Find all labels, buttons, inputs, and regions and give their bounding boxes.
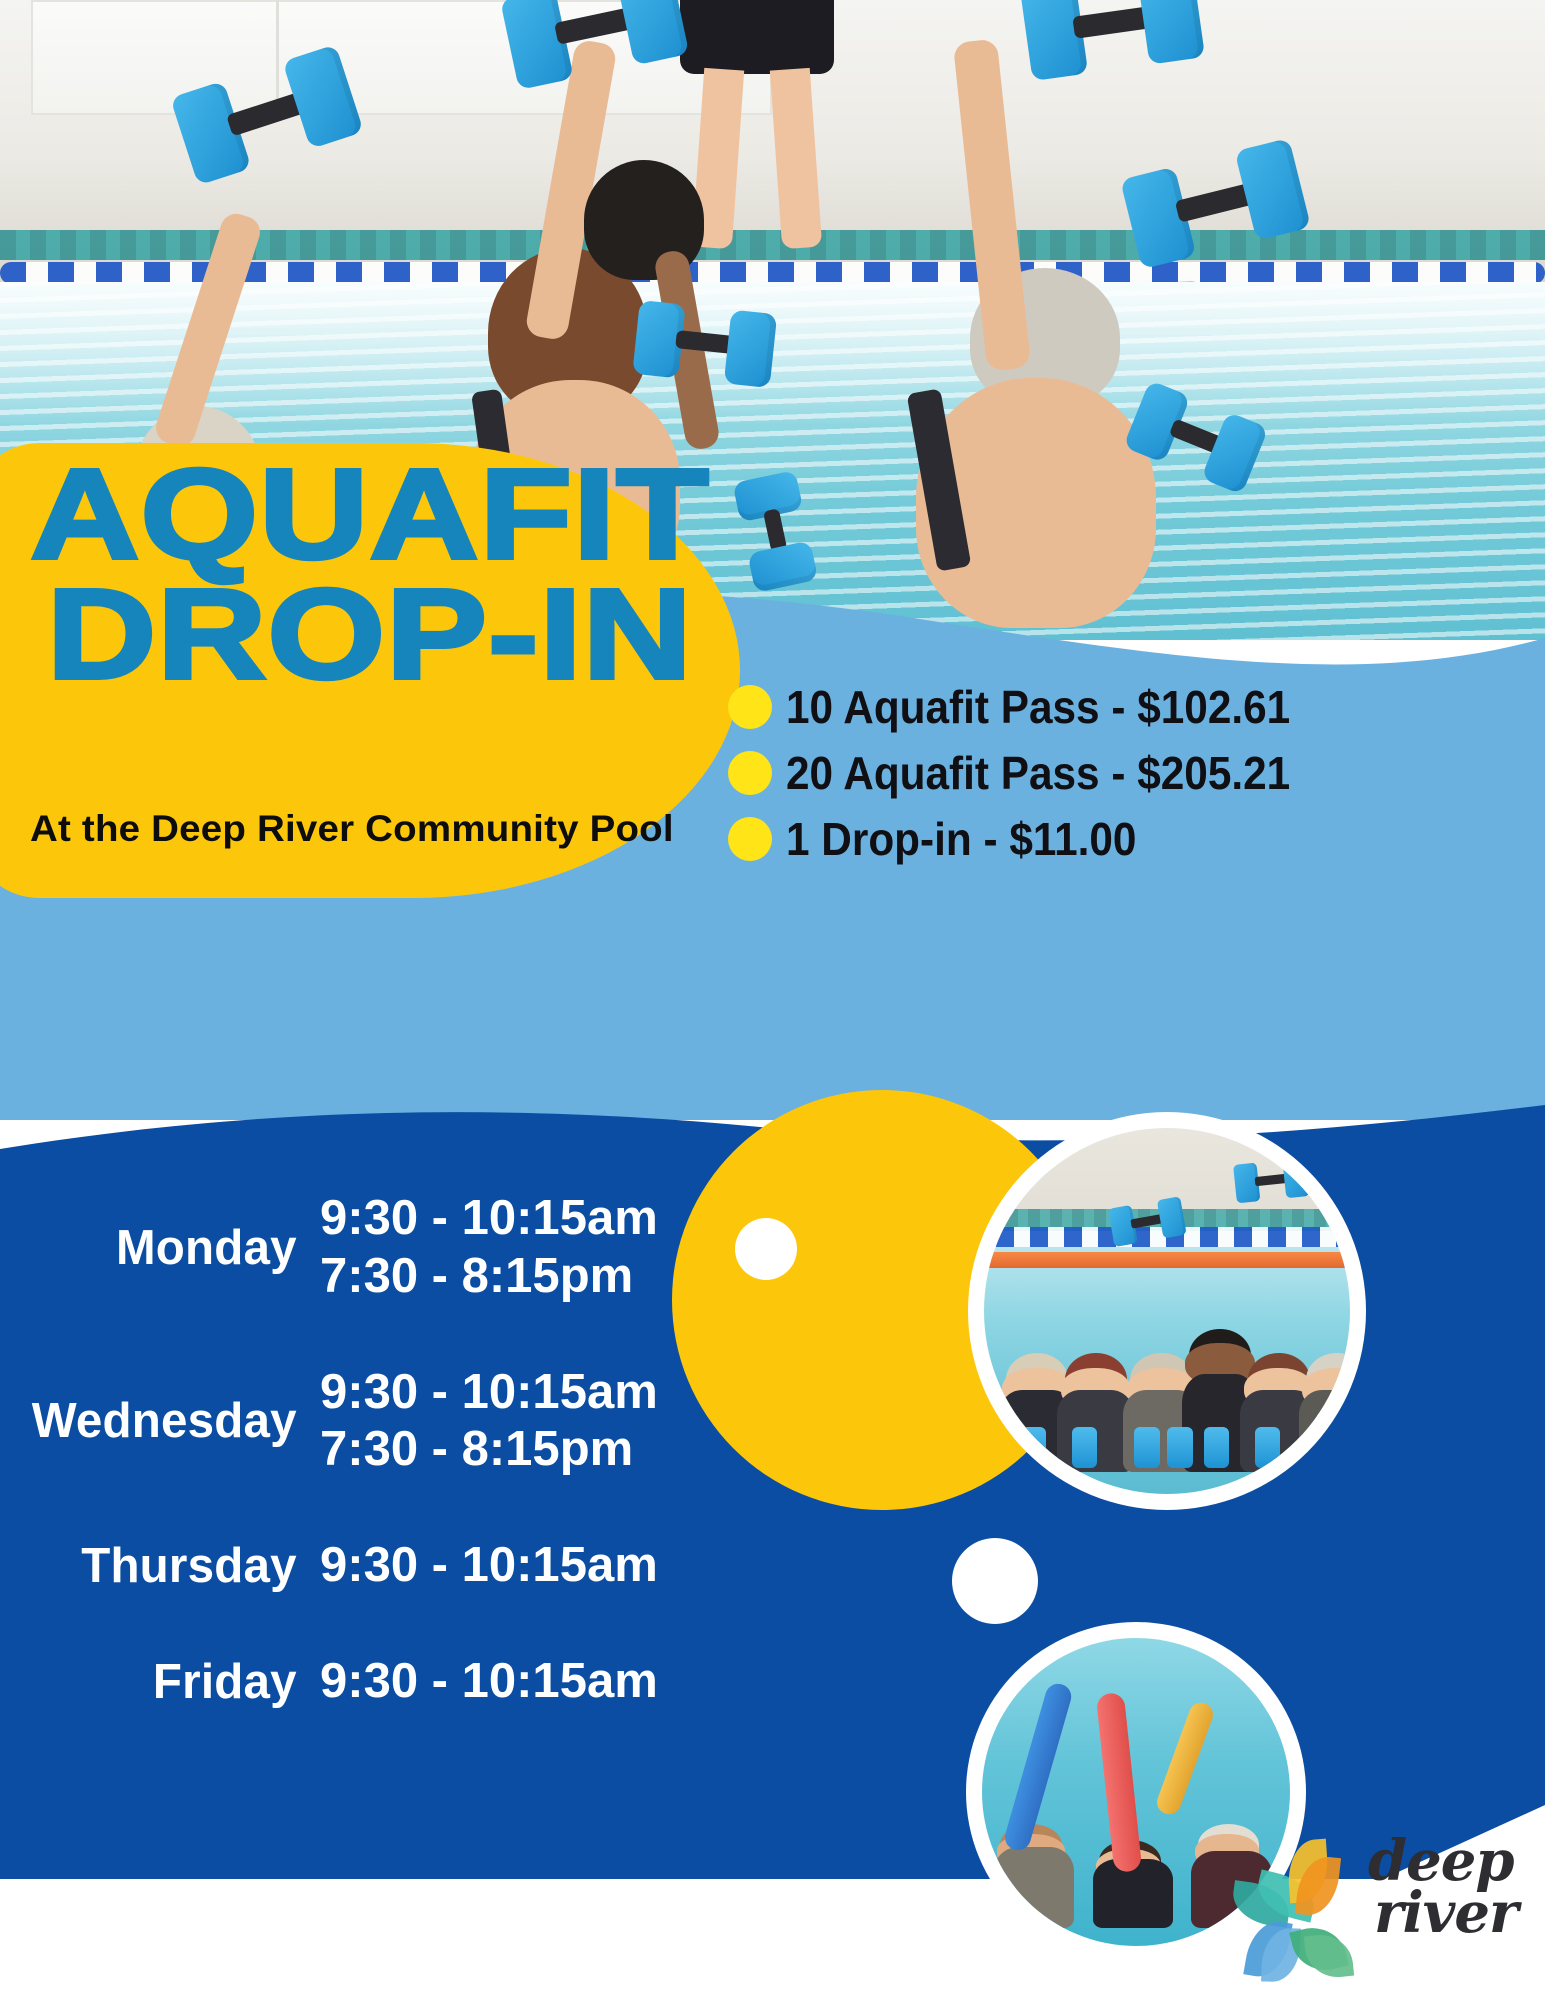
schedule-times: 9:30 - 10:15am 7:30 - 8:15pm — [320, 1190, 658, 1306]
bullet-icon — [728, 817, 772, 861]
schedule-day: Friday — [10, 1654, 320, 1710]
schedule-times: 9:30 - 10:15am 7:30 - 8:15pm — [320, 1364, 658, 1480]
schedule-list: Monday 9:30 - 10:15am 7:30 - 8:15pm Wedn… — [0, 1190, 700, 1769]
schedule-row: Wednesday 9:30 - 10:15am 7:30 - 8:15pm — [0, 1364, 700, 1480]
schedule-time: 7:30 - 8:15pm — [320, 1421, 658, 1479]
schedule-time: 9:30 - 10:15am — [320, 1537, 658, 1595]
price-item: 10 Aquafit Pass - $102.61 — [728, 680, 1538, 734]
schedule-time: 9:30 - 10:15am — [320, 1653, 658, 1711]
bullet-icon — [728, 685, 772, 729]
price-label: 10 Aquafit Pass - $102.61 — [786, 680, 1290, 734]
bullet-icon — [728, 751, 772, 795]
schedule-day: Thursday — [10, 1538, 320, 1594]
schedule-time: 7:30 - 8:15pm — [320, 1248, 658, 1306]
price-item: 20 Aquafit Pass - $205.21 — [728, 746, 1538, 800]
schedule-times: 9:30 - 10:15am — [320, 1537, 658, 1595]
leaf-cluster-icon — [1232, 1842, 1360, 1974]
poster: AQUAFIT DROP-IN At the Deep River Commun… — [0, 0, 1545, 1999]
price-label: 1 Drop-in - $11.00 — [786, 812, 1136, 866]
schedule-row: Monday 9:30 - 10:15am 7:30 - 8:15pm — [0, 1190, 700, 1306]
title-line-2: DROP-IN — [0, 575, 807, 695]
schedule-day: Wednesday — [10, 1393, 320, 1449]
circle-photo-group — [968, 1112, 1366, 1510]
schedule-time: 9:30 - 10:15am — [320, 1190, 658, 1248]
schedule-time: 9:30 - 10:15am — [320, 1364, 658, 1422]
logo-line-2: river — [1374, 1888, 1517, 1940]
price-item: 1 Drop-in - $11.00 — [728, 812, 1538, 866]
schedule-row: Thursday 9:30 - 10:15am — [0, 1537, 700, 1595]
decorative-dot — [952, 1538, 1038, 1624]
poster-subtitle: At the Deep River Community Pool — [30, 808, 674, 850]
price-label: 20 Aquafit Pass - $205.21 — [786, 746, 1290, 800]
schedule-row: Friday 9:30 - 10:15am — [0, 1653, 700, 1711]
page-title: AQUAFIT DROP-IN — [0, 455, 740, 696]
logo-wordmark: deep river — [1368, 1836, 1517, 1939]
decorative-dot — [735, 1218, 797, 1280]
deep-river-logo: deep river — [1228, 1828, 1528, 1984]
schedule-day: Monday — [10, 1220, 320, 1276]
pricing-list: 10 Aquafit Pass - $102.61 20 Aquafit Pas… — [728, 680, 1538, 878]
title-line-1: AQUAFIT — [0, 455, 807, 575]
schedule-times: 9:30 - 10:15am — [320, 1653, 658, 1711]
